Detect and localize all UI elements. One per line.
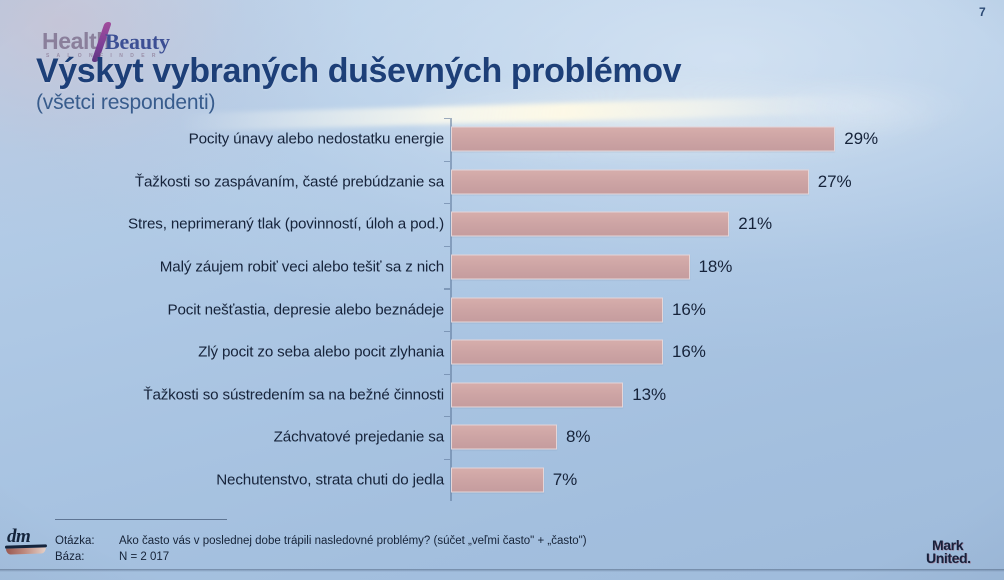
chart-row: Ťažkosti so sústredením sa na bežné činn… (0, 374, 1004, 417)
footer-divider (55, 519, 227, 520)
chart-bar (451, 255, 690, 280)
chart-bar-value: 13% (632, 385, 666, 405)
chart-bar-value: 16% (672, 342, 706, 362)
chart-category-label: Zlý pocit zo seba alebo pocit zlyhania (198, 344, 444, 361)
mark-united-logo: Mark United. (926, 538, 996, 572)
chart-bar (451, 297, 663, 322)
chart-bar-value: 29% (844, 129, 878, 149)
chart-row: Malý záujem robiť veci alebo tešiť sa z … (0, 246, 1004, 289)
axis-tick (444, 374, 450, 375)
chart-bar (451, 127, 835, 152)
axis-tick (444, 203, 450, 204)
page-number: 7 (979, 5, 986, 19)
chart-bar-value: 18% (699, 257, 733, 277)
axis-tick (444, 459, 450, 460)
axis-tick (444, 246, 450, 247)
chart-row: Nechutenstvo, strata chuti do jedla7% (0, 459, 1004, 502)
chart-category-label: Malý záujem robiť veci alebo tešiť sa z … (160, 259, 444, 276)
dm-logo: dm (5, 528, 51, 554)
chart-row: Ťažkosti so zaspávaním, časté prebúdzani… (0, 161, 1004, 204)
page-subtitle: (všetci respondenti) (36, 91, 215, 115)
footer-question-key: Otázka: (55, 533, 119, 549)
slide-canvas: 7 Health Beauty S A L O N F I N D E R Vý… (0, 0, 1004, 580)
chart-bar (451, 382, 623, 407)
chart-bar-value: 21% (738, 214, 772, 234)
chart-row: Stres, neprimeraný tlak (povinností, úlo… (0, 203, 1004, 246)
chart-row: Zlý pocit zo seba alebo pocit zlyhania16… (0, 331, 1004, 374)
axis-tick (444, 288, 450, 289)
chart-bar (451, 340, 663, 365)
mark-united-line2: United. (926, 551, 971, 566)
chart-category-label: Ťažkosti so zaspávaním, časté prebúdzani… (135, 173, 444, 190)
chart-bar-value: 8% (566, 427, 590, 447)
chart-category-label: Ťažkosti so sústredením sa na bežné činn… (143, 386, 444, 403)
chart-bar-value: 27% (818, 172, 852, 192)
dm-logo-text: dm (7, 526, 30, 548)
footer-notes: Otázka: Ako často vás v poslednej dobe t… (55, 533, 587, 565)
chart-category-label: Nechutenstvo, strata chuti do jedla (216, 472, 444, 489)
axis-tick (444, 416, 450, 417)
footer-base-key: Báza: (55, 549, 119, 565)
chart-bar (451, 468, 544, 493)
bar-chart: Pocity únavy alebo nedostatku energie29%… (0, 118, 1004, 508)
footer-question-line: Otázka: Ako často vás v poslednej dobe t… (55, 533, 587, 549)
chart-category-label: Stres, neprimeraný tlak (povinností, úlo… (128, 216, 444, 233)
chart-row: Pocity únavy alebo nedostatku energie29% (0, 118, 1004, 161)
chart-category-label: Záchvatové prejedanie sa (274, 429, 444, 446)
chart-bar (451, 425, 557, 450)
chart-bar-value: 7% (553, 470, 577, 490)
screen-bottom-edge (0, 569, 1004, 572)
axis-tick (444, 118, 450, 119)
chart-category-label: Pocit nešťastia, depresie alebo beznádej… (168, 301, 445, 318)
chart-bar-value: 16% (672, 300, 706, 320)
axis-tick (444, 161, 450, 162)
page-title: Výskyt vybraných duševných problémov (36, 52, 681, 91)
chart-row: Záchvatové prejedanie sa8% (0, 416, 1004, 459)
chart-row: Pocit nešťastia, depresie alebo beznádej… (0, 288, 1004, 331)
axis-tick (444, 331, 450, 332)
chart-bar (451, 169, 809, 194)
chart-category-label: Pocity únavy alebo nedostatku energie (189, 131, 444, 148)
footer-base-value: N = 2 017 (119, 549, 169, 565)
chart-bar (451, 212, 729, 237)
footer-question-value: Ako často vás v poslednej dobe trápili n… (119, 533, 587, 549)
footer-base-line: Báza: N = 2 017 (55, 549, 587, 565)
